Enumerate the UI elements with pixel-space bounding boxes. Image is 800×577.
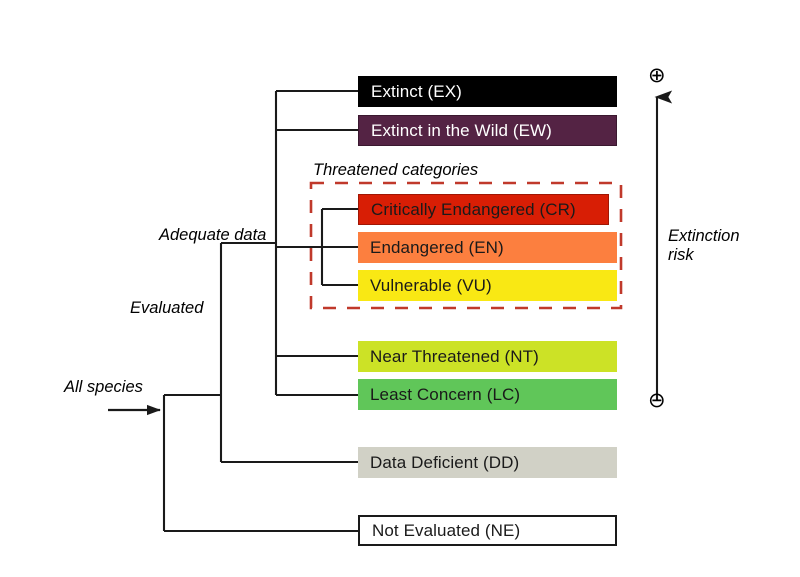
category-bar-ew[interactable]: Extinct in the Wild (EW) xyxy=(358,115,617,146)
category-label-lc: Least Concern (LC) xyxy=(370,385,520,405)
category-bar-vu[interactable]: Vulnerable (VU) xyxy=(358,270,617,301)
category-bar-ex[interactable]: Extinct (EX) xyxy=(358,76,617,107)
extinction-risk-label-line1: Extinction xyxy=(668,227,740,246)
category-bar-nt[interactable]: Near Threatened (NT) xyxy=(358,341,617,372)
diagram-canvas: Extinct (EX) Extinct in the Wild (EW) Cr… xyxy=(0,0,800,577)
category-bar-lc[interactable]: Least Concern (LC) xyxy=(358,379,617,410)
plus-sign-icon: ⊕ xyxy=(648,65,666,86)
category-bar-dd[interactable]: Data Deficient (DD) xyxy=(358,447,617,478)
extinction-risk-label-line2: risk xyxy=(668,246,740,265)
category-bar-ne[interactable]: Not Evaluated (NE) xyxy=(358,515,617,546)
category-label-ne: Not Evaluated (NE) xyxy=(372,521,520,541)
category-label-nt: Near Threatened (NT) xyxy=(370,347,539,367)
category-label-dd: Data Deficient (DD) xyxy=(370,453,519,473)
category-label-vu: Vulnerable (VU) xyxy=(370,276,492,296)
category-label-ex: Extinct (EX) xyxy=(371,82,462,102)
category-bar-en[interactable]: Endangered (EN) xyxy=(358,232,617,263)
category-label-cr: Critically Endangered (CR) xyxy=(371,200,576,220)
threatened-categories-label: Threatened categories xyxy=(313,161,478,180)
category-bar-cr[interactable]: Critically Endangered (CR) xyxy=(358,194,609,225)
extinction-risk-label: Extinction risk xyxy=(668,227,740,266)
evaluated-label: Evaluated xyxy=(130,299,203,318)
adequate-data-label: Adequate data xyxy=(159,226,266,245)
minus-sign-icon: ⊖ xyxy=(648,390,666,411)
category-label-ew: Extinct in the Wild (EW) xyxy=(371,121,552,141)
all-species-label: All species xyxy=(64,378,143,397)
category-label-en: Endangered (EN) xyxy=(370,238,504,258)
